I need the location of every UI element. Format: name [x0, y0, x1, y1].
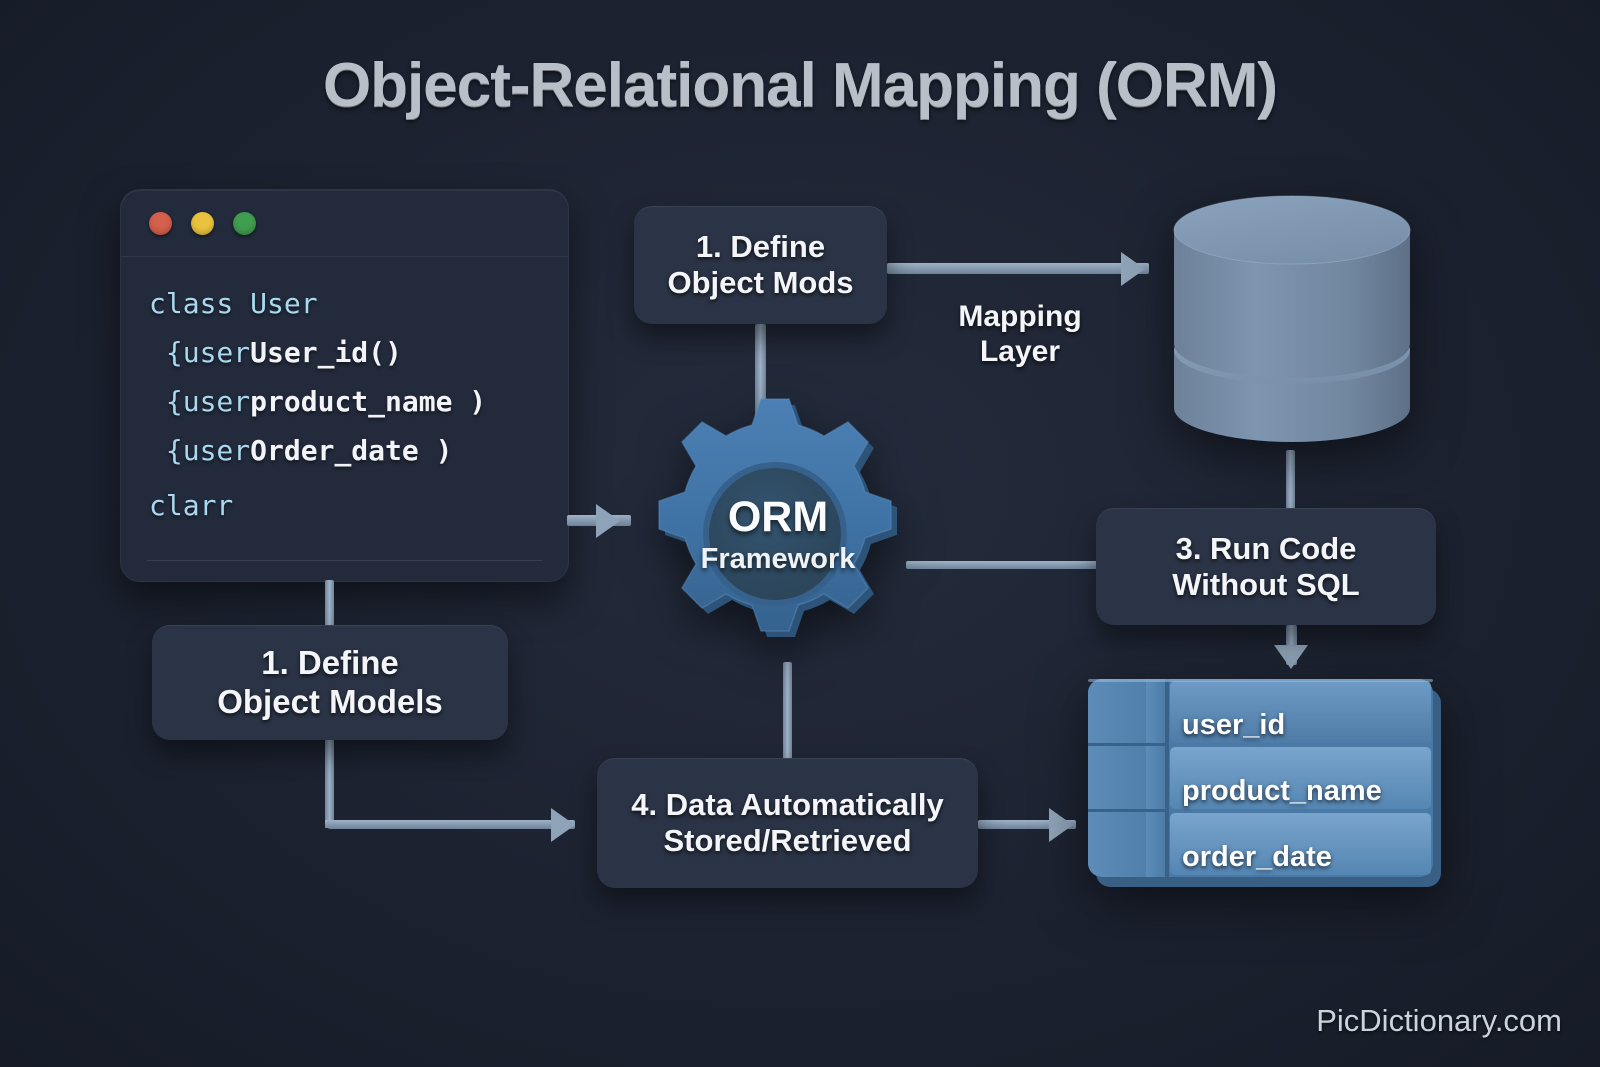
connector-gear-to-run-code: [906, 561, 1102, 569]
connector-models-to-data-auto: [325, 820, 575, 829]
diagram-canvas: Object-Relational Mapping (ORM) class Us…: [0, 0, 1600, 1067]
connector-mods-to-database: [887, 263, 1149, 274]
code-identifier: product_name: [250, 385, 452, 418]
code-identifier: User_id: [250, 336, 368, 369]
code-window-body: class User {userUser_id() {userproduct_n…: [121, 257, 568, 530]
code-window-titlebar: [121, 190, 568, 257]
page-title: Object-Relational Mapping (ORM): [0, 50, 1600, 121]
code-line-2: {userUser_id(): [149, 328, 568, 377]
connector-code-to-models: [325, 580, 334, 628]
code-line-4: {userOrder_date ): [149, 426, 568, 475]
code-keyword: class: [149, 287, 250, 320]
code-window-divider: [147, 560, 542, 561]
step-box-data-automatically-stored-label: 4. Data Automatically Stored/Retrieved: [631, 787, 943, 859]
code-keyword: clarr: [149, 489, 233, 522]
database-cylinder-icon: [1168, 190, 1416, 458]
step-box-data-automatically-stored[interactable]: 4. Data Automatically Stored/Retrieved: [597, 758, 978, 888]
code-line-1: class User: [149, 279, 568, 328]
step-box-define-object-mods[interactable]: 1. Define Object Mods: [634, 206, 887, 324]
arrowhead-code-to-gear: [596, 504, 620, 538]
connector-models-down: [325, 738, 334, 828]
arrowhead-data-auto-to-table: [1049, 808, 1073, 842]
arrowhead-mods-to-database: [1121, 252, 1145, 286]
code-window: class User {userUser_id() {userproduct_n…: [120, 189, 569, 582]
step-box-run-code-without-sql-label: 3. Run Code Without SQL: [1172, 531, 1359, 603]
connector-database-to-run-code: [1286, 450, 1295, 512]
code-keyword: {user: [149, 336, 250, 369]
step-box-define-object-models[interactable]: 1. Define Object Models: [152, 625, 508, 740]
orm-gear-icon: [628, 393, 928, 679]
code-identifier: Order_date: [250, 434, 419, 467]
maximize-icon[interactable]: [233, 212, 256, 235]
code-line-3: {userproduct_name ): [149, 377, 568, 426]
step-box-define-object-models-label: 1. Define Object Models: [217, 644, 443, 721]
code-identifier: User: [250, 287, 317, 320]
code-line-5: clarr: [149, 481, 568, 530]
code-tail: (): [368, 336, 402, 369]
code-keyword: {user: [149, 385, 250, 418]
database-table-block: [1086, 669, 1446, 891]
watermark: PicDictionary.com: [1316, 1003, 1562, 1039]
code-tail: ): [419, 434, 453, 467]
code-tail: ): [452, 385, 486, 418]
minimize-icon[interactable]: [191, 212, 214, 235]
close-icon[interactable]: [149, 212, 172, 235]
arrowhead-run-code-to-table: [1274, 645, 1308, 669]
mapping-layer-label: Mapping Layer: [930, 300, 1110, 370]
code-keyword: {user: [149, 434, 250, 467]
step-box-run-code-without-sql[interactable]: 3. Run Code Without SQL: [1096, 508, 1436, 625]
arrowhead-models-to-data-auto: [551, 808, 575, 842]
step-box-define-object-mods-label: 1. Define Object Mods: [667, 229, 853, 301]
